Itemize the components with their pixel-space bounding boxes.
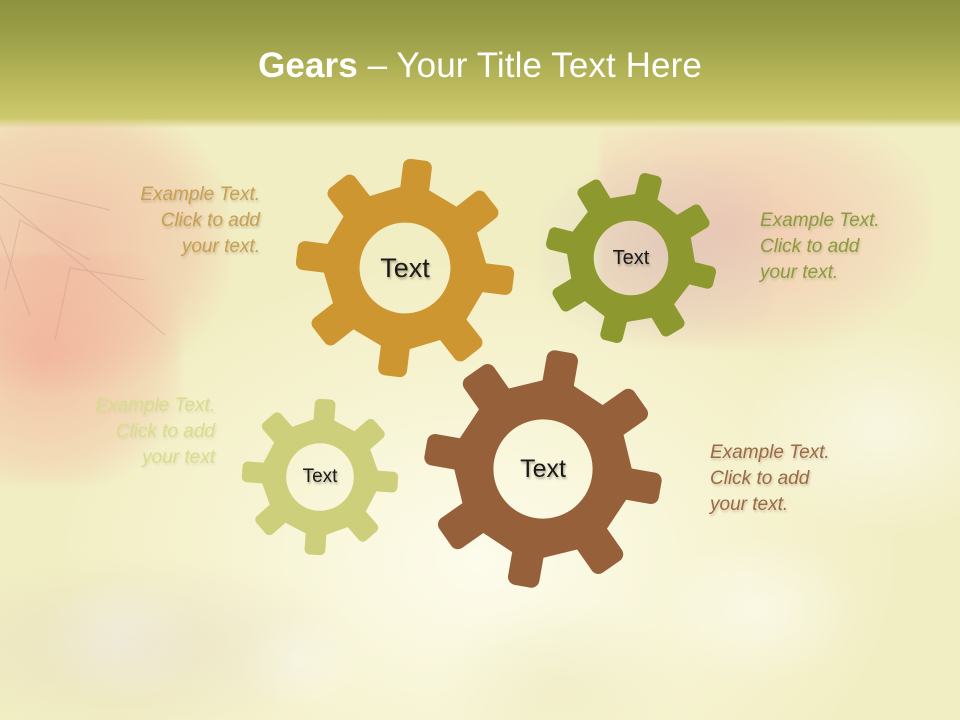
background-bokeh	[0, 560, 360, 720]
brown-gear[interactable]: Text	[424, 350, 662, 588]
caption-bottom-left[interactable]: Example Text. Click to add your text	[55, 393, 215, 471]
caption-top-left[interactable]: Example Text. Click to add your text.	[95, 182, 260, 260]
title-rest-part: – Your Title Text Here	[358, 46, 702, 85]
olive-gear[interactable]: Text	[545, 172, 717, 344]
presentation-slide: Gears – Your Title Text Here Text Text T…	[0, 0, 960, 720]
amber-gear[interactable]: Text	[296, 159, 514, 377]
caption-top-right[interactable]: Example Text. Click to add your text.	[760, 208, 940, 286]
pale-gear[interactable]: Text	[242, 399, 398, 555]
title-bold-part: Gears	[258, 46, 358, 85]
olive-gear-body[interactable]	[527, 154, 736, 363]
page-title: Gears – Your Title Text Here	[0, 46, 960, 86]
brown-gear-body[interactable]	[405, 331, 681, 607]
caption-bottom-right[interactable]: Example Text. Click to add your text.	[710, 440, 890, 518]
pale-gear-body[interactable]	[237, 394, 404, 561]
